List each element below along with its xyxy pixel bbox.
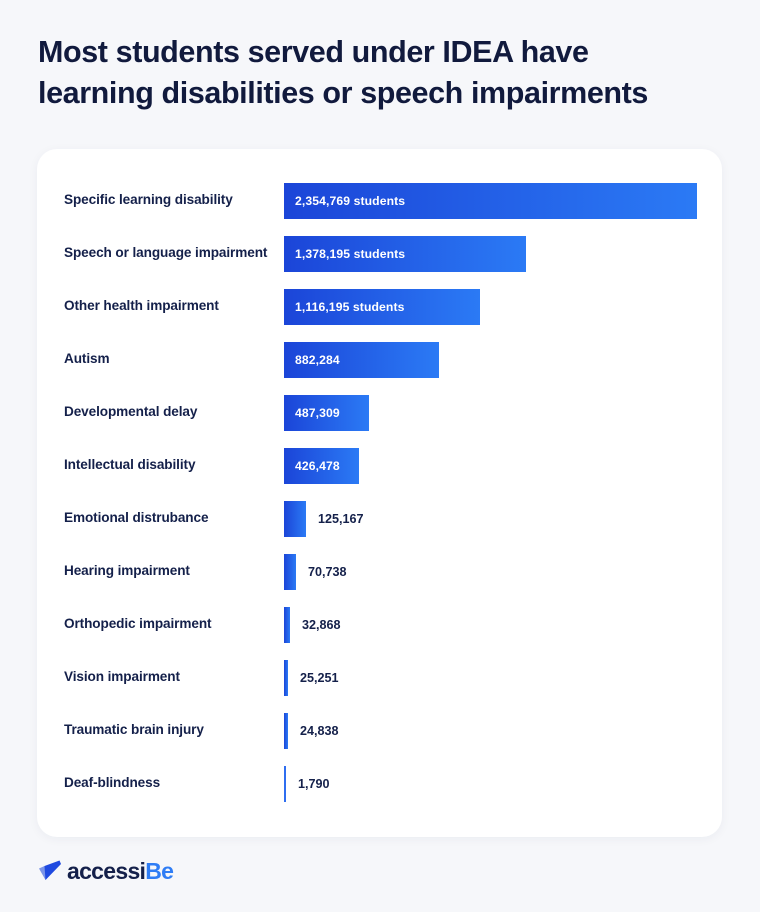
bar-value-label: 70,738	[308, 565, 347, 579]
check-mark-icon	[37, 859, 63, 883]
page-title: Most students served under IDEA have lea…	[38, 32, 728, 114]
bar-category-label: Intellectual disability	[64, 456, 279, 475]
bar-category-label: Speech or language impairment	[64, 244, 279, 263]
bar-category-label: Emotional distrubance	[64, 509, 279, 528]
logo-text-accent: Be	[145, 858, 173, 884]
chart-row: Emotional distrubance125,167	[37, 492, 722, 545]
chart-row: Traumatic brain injury24,838	[37, 704, 722, 757]
chart-row: Intellectual disability426,478	[37, 439, 722, 492]
bar-category-label: Traumatic brain injury	[64, 721, 279, 740]
bar-value-label: 125,167	[318, 512, 364, 526]
bar-category-label: Deaf-blindness	[64, 774, 279, 793]
bar-value-label: 25,251	[300, 671, 339, 685]
bar-track: 426,478	[284, 439, 714, 492]
bar: 1,116,195 students	[284, 289, 480, 325]
logo-text-dark: accessi	[67, 858, 145, 884]
logo-wordmark: accessiBe	[67, 859, 173, 883]
bar-track: 2,354,769 students	[284, 174, 714, 227]
bar	[284, 713, 288, 749]
bar: 1,378,195 students	[284, 236, 526, 272]
bar: 2,354,769 students	[284, 183, 697, 219]
bar-value-label: 426,478	[284, 459, 340, 473]
bar-value-label: 2,354,769 students	[284, 194, 405, 208]
bar-category-label: Developmental delay	[64, 403, 279, 422]
bar-value-label: 1,378,195 students	[284, 247, 405, 261]
bar-value-label: 32,868	[302, 618, 341, 632]
bar-track: 1,378,195 students	[284, 227, 714, 280]
chart-row: Other health impairment1,116,195 student…	[37, 280, 722, 333]
bar	[284, 766, 286, 802]
bar	[284, 501, 306, 537]
bar-value-label: 882,284	[284, 353, 340, 367]
bar-value-label: 1,790	[298, 777, 330, 791]
bar-track: 125,167	[284, 492, 714, 545]
bar	[284, 554, 296, 590]
bar: 882,284	[284, 342, 439, 378]
bar-track: 24,838	[284, 704, 714, 757]
bar-category-label: Specific learning disability	[64, 191, 279, 210]
bar-category-label: Other health impairment	[64, 297, 279, 316]
bar-track: 32,868	[284, 598, 714, 651]
bar-value-label: 24,838	[300, 724, 339, 738]
infographic-page: Most students served under IDEA have lea…	[0, 0, 760, 912]
chart-row: Hearing impairment70,738	[37, 545, 722, 598]
bar-category-label: Orthopedic impairment	[64, 615, 279, 634]
bar	[284, 660, 288, 696]
chart-row: Autism882,284	[37, 333, 722, 386]
bar	[284, 607, 290, 643]
bar-category-label: Hearing impairment	[64, 562, 279, 581]
bar: 426,478	[284, 448, 359, 484]
horizontal-bar-chart: Specific learning disability2,354,769 st…	[37, 149, 722, 837]
accessibe-logo: accessiBe	[37, 856, 173, 886]
bar: 487,309	[284, 395, 369, 431]
chart-row: Developmental delay487,309	[37, 386, 722, 439]
bar-track: 70,738	[284, 545, 714, 598]
chart-row: Vision impairment25,251	[37, 651, 722, 704]
bar-value-label: 487,309	[284, 406, 340, 420]
chart-row: Speech or language impairment1,378,195 s…	[37, 227, 722, 280]
bar-value-label: 1,116,195 students	[284, 300, 405, 314]
bar-track: 25,251	[284, 651, 714, 704]
chart-row: Specific learning disability2,354,769 st…	[37, 174, 722, 227]
chart-card: Specific learning disability2,354,769 st…	[37, 149, 722, 837]
chart-row: Deaf-blindness1,790	[37, 757, 722, 810]
bar-category-label: Vision impairment	[64, 668, 279, 687]
bar-category-label: Autism	[64, 350, 279, 369]
bar-track: 882,284	[284, 333, 714, 386]
bar-track: 487,309	[284, 386, 714, 439]
bar-track: 1,116,195 students	[284, 280, 714, 333]
bar-track: 1,790	[284, 757, 714, 810]
chart-row: Orthopedic impairment32,868	[37, 598, 722, 651]
